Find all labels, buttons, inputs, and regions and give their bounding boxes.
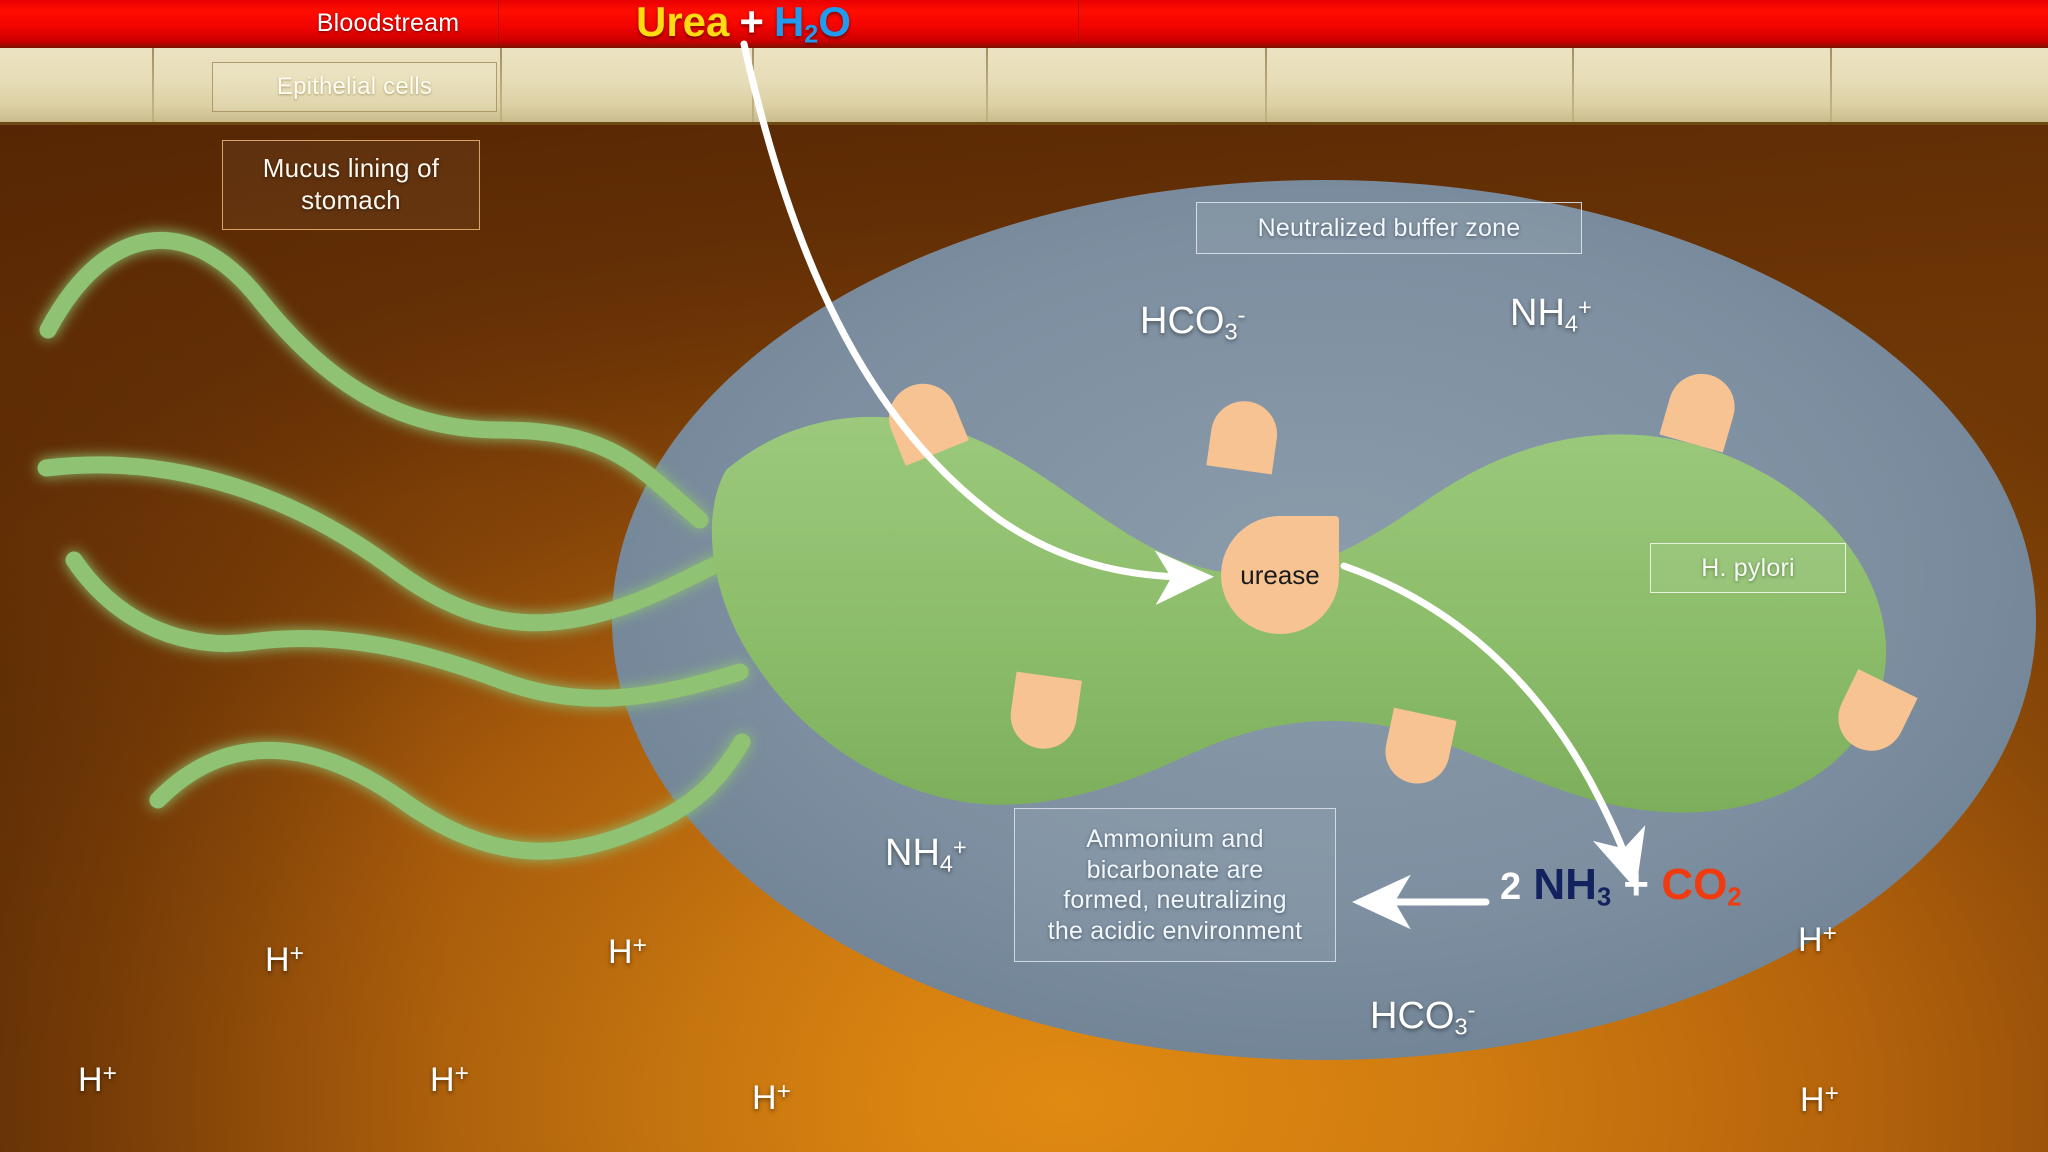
stoichiometric-coefficient: 2 xyxy=(1500,866,1521,908)
product-reaction-label: 2 NH3 + CO2 xyxy=(1500,860,1742,913)
note-line: the acidic environment xyxy=(1048,916,1303,947)
proton-ion: H+ xyxy=(78,1060,117,1100)
proton-ion: H+ xyxy=(1798,920,1837,960)
proton-ion: H+ xyxy=(430,1060,469,1100)
proton-ion: H+ xyxy=(265,940,304,980)
bicarbonate-ion: HCO3- xyxy=(1140,300,1245,346)
urease-label: urease xyxy=(1240,560,1320,591)
note-line: formed, neutralizing xyxy=(1063,885,1287,916)
ammonia-text: NH3 xyxy=(1533,860,1611,909)
ammonium-ion: NH4+ xyxy=(1510,292,1592,338)
bicarbonate-ion: HCO3- xyxy=(1370,995,1475,1041)
flagellum xyxy=(48,240,700,520)
plus-sign-icon: + xyxy=(1623,860,1649,909)
note-line: bicarbonate are xyxy=(1087,855,1264,886)
proton-ion: H+ xyxy=(752,1078,791,1118)
proton-ion: H+ xyxy=(1800,1080,1839,1120)
neutralized-buffer-zone-callout: Neutralized buffer zone xyxy=(1196,202,1582,254)
ammonium-ion: NH4+ xyxy=(885,832,967,878)
h-pylori-callout: H. pylori xyxy=(1650,543,1846,593)
urease-enzyme-blob: urease xyxy=(1221,516,1339,634)
proton-ion: H+ xyxy=(608,932,647,972)
note-line: Ammonium and xyxy=(1086,824,1263,855)
neutralization-note-callout: Ammonium and bicarbonate are formed, neu… xyxy=(1014,808,1336,962)
carbon-dioxide-text: CO2 xyxy=(1661,860,1741,909)
diagram-canvas: Bloodstream Epithelial cells Urea+H2O Mu… xyxy=(0,0,2048,1152)
